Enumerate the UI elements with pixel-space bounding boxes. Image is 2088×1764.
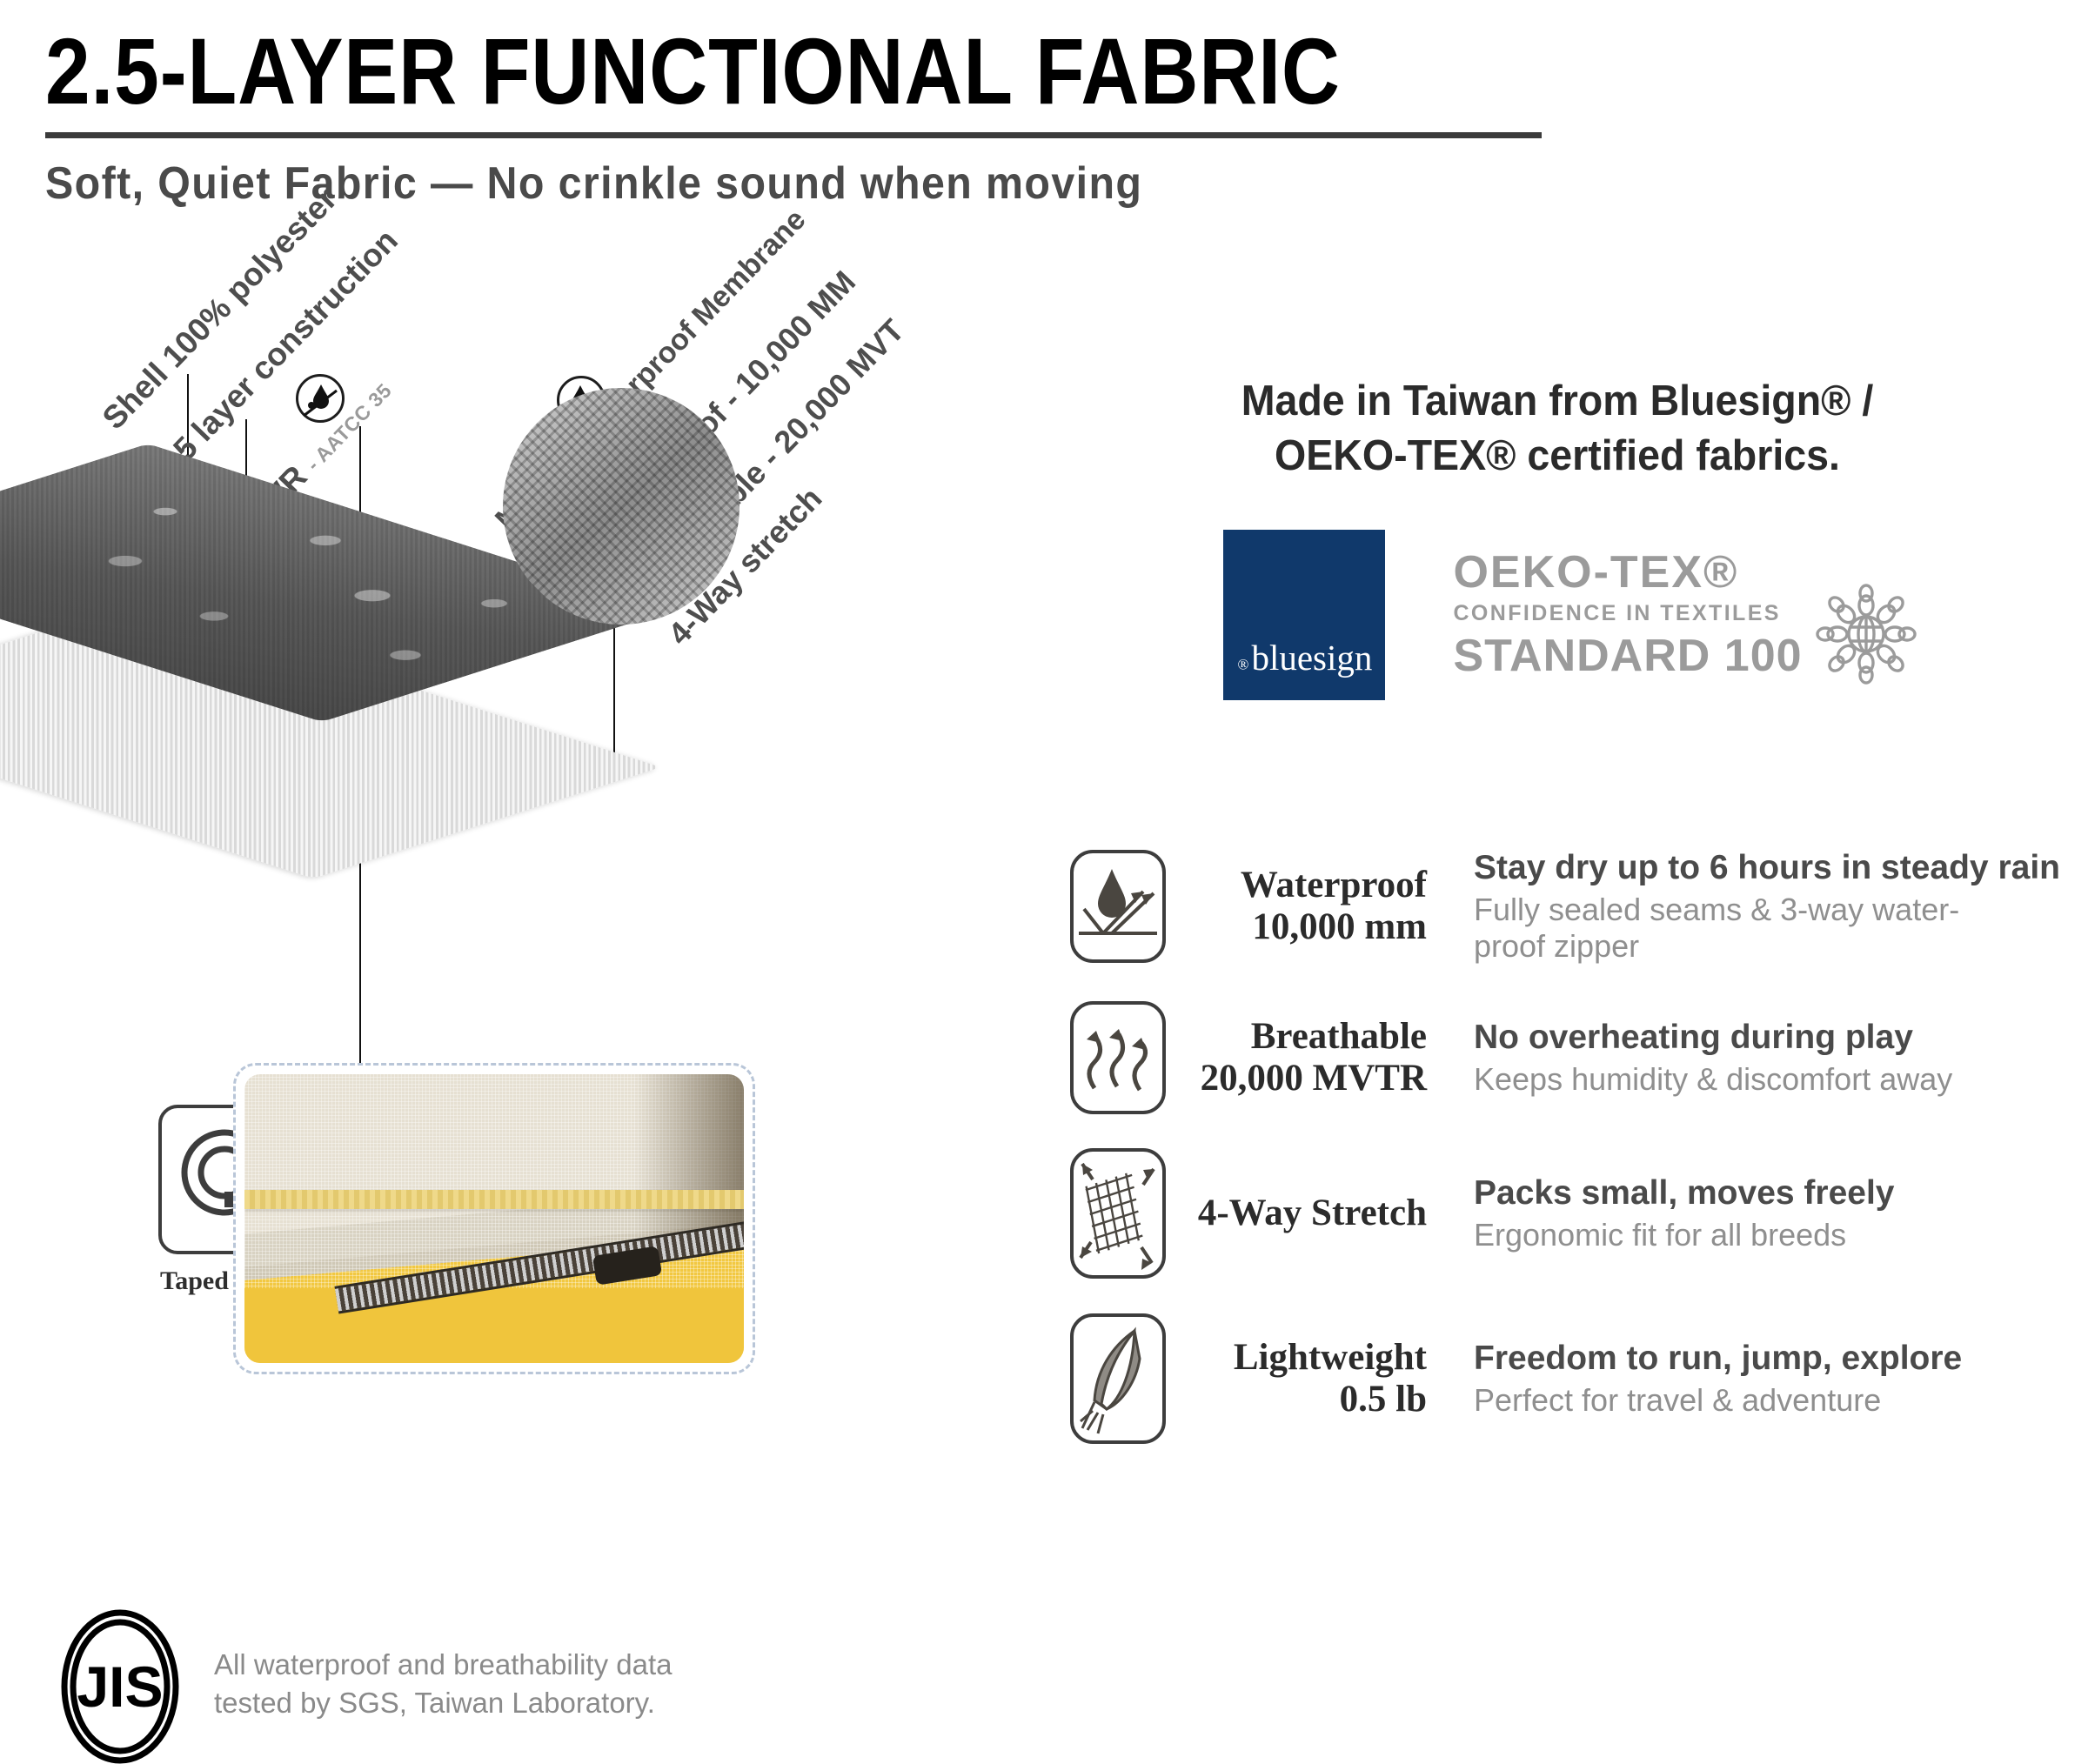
lightweight-icon [1070, 1313, 1166, 1444]
waterproof-icon [1070, 850, 1166, 963]
header: 2.5-LAYER FUNCTIONAL FABRIC Soft, Quiet … [45, 24, 1576, 210]
bluesign-registered-mark: ® [1237, 657, 1248, 673]
feature-headline-breathable: No overheating during play [1474, 1018, 2079, 1058]
jis-logo-text: JIS [77, 1654, 163, 1719]
breathable-icon [1070, 1001, 1166, 1114]
taped-seam-photo-image [244, 1074, 744, 1363]
oeko-tex-line1: OEKO-TEX® [1453, 549, 1802, 597]
header-divider [45, 132, 1542, 138]
oeko-tex-line2: CONFIDENCE IN TEXTILES [1453, 601, 1802, 626]
photo-shadow [634, 1074, 744, 1242]
feature-title-stretch: 4-Way Stretch [1166, 1193, 1453, 1234]
feature-row-lightweight: Lightweight 0.5 lb Freedom to run, jump,… [1070, 1296, 2079, 1461]
feature-body-breathable: No overheating during play Keeps humidit… [1453, 1018, 2079, 1098]
infographic-page: 2.5-LAYER FUNCTIONAL FABRIC Soft, Quiet … [0, 0, 2088, 1566]
feature-list: Waterproof 10,000 mm Stay dry up to 6 ho… [1070, 828, 2079, 1461]
photo-yellow-fabric [244, 1288, 744, 1363]
taped-seam-photo [233, 1063, 755, 1374]
feature-sub-waterproof: Fully sealed seams & 3-way water- proof … [1474, 892, 2079, 966]
fabric-layer-diagram: Shell 100% polyester 2.5 layer construct… [0, 226, 1027, 1566]
oeko-tex-text: OEKO-TEX® CONFIDENCE IN TEXTILES STANDAR… [1453, 549, 1802, 683]
page-subtitle: Soft, Quiet Fabric — No crinkle sound wh… [45, 157, 1469, 210]
feature-headline-lightweight: Freedom to run, jump, explore [1474, 1339, 2079, 1379]
oeko-tex-line3: STANDARD 100 [1453, 630, 1802, 682]
fabric-weave-closeup [503, 388, 739, 625]
feature-row-breathable: Breathable 20,000 MVTR No overheating du… [1070, 985, 2079, 1131]
certification-logos: bluesign® OEKO-TEX® CONFIDENCE IN TEXTIL… [1070, 530, 2071, 700]
feature-body-stretch: Packs small, moves freely Ergonomic fit … [1453, 1173, 2079, 1253]
bluesign-logo-text: bluesign® [1237, 652, 1248, 688]
feature-body-waterproof: Stay dry up to 6 hours in steady rain Fu… [1453, 848, 2079, 966]
lab-test-note: All waterproof and breathability data te… [214, 1646, 673, 1721]
oeko-tex-logo: OEKO-TEX® CONFIDENCE IN TEXTILES STANDAR… [1453, 545, 1917, 685]
feature-body-lightweight: Freedom to run, jump, explore Perfect fo… [1453, 1339, 2079, 1419]
feature-title-lightweight: Lightweight 0.5 lb [1166, 1337, 1453, 1420]
photo-seam-tape [244, 1190, 744, 1209]
bluesign-logo: bluesign® [1223, 530, 1385, 700]
jis-logo: JIS [61, 1609, 179, 1764]
certification-headline: Made in Taiwan from Bluesign® / OEKO-TEX… [1094, 374, 2020, 483]
stretch-icon [1070, 1148, 1166, 1279]
certification-block: Made in Taiwan from Bluesign® / OEKO-TEX… [1070, 374, 2071, 700]
feature-headline-waterproof: Stay dry up to 6 hours in steady rain [1474, 848, 2079, 888]
feature-row-waterproof: Waterproof 10,000 mm Stay dry up to 6 ho… [1070, 828, 2079, 985]
feature-sub-breathable: Keeps humidity & discomfort away [1474, 1061, 2079, 1098]
feature-sub-lightweight: Perfect for travel & adventure [1474, 1382, 2079, 1419]
feature-sub-stretch: Ergonomic fit for all breeds [1474, 1217, 2079, 1253]
oeko-tex-globe-icon [1815, 583, 1917, 685]
page-title: 2.5-LAYER FUNCTIONAL FABRIC [45, 24, 1362, 118]
feature-row-stretch: 4-Way Stretch Packs small, moves freely … [1070, 1131, 2079, 1296]
feature-title-waterproof: Waterproof 10,000 mm [1166, 865, 1453, 948]
feature-title-breathable: Breathable 20,000 MVTR [1166, 1016, 1453, 1099]
feature-headline-stretch: Packs small, moves freely [1474, 1173, 2079, 1213]
